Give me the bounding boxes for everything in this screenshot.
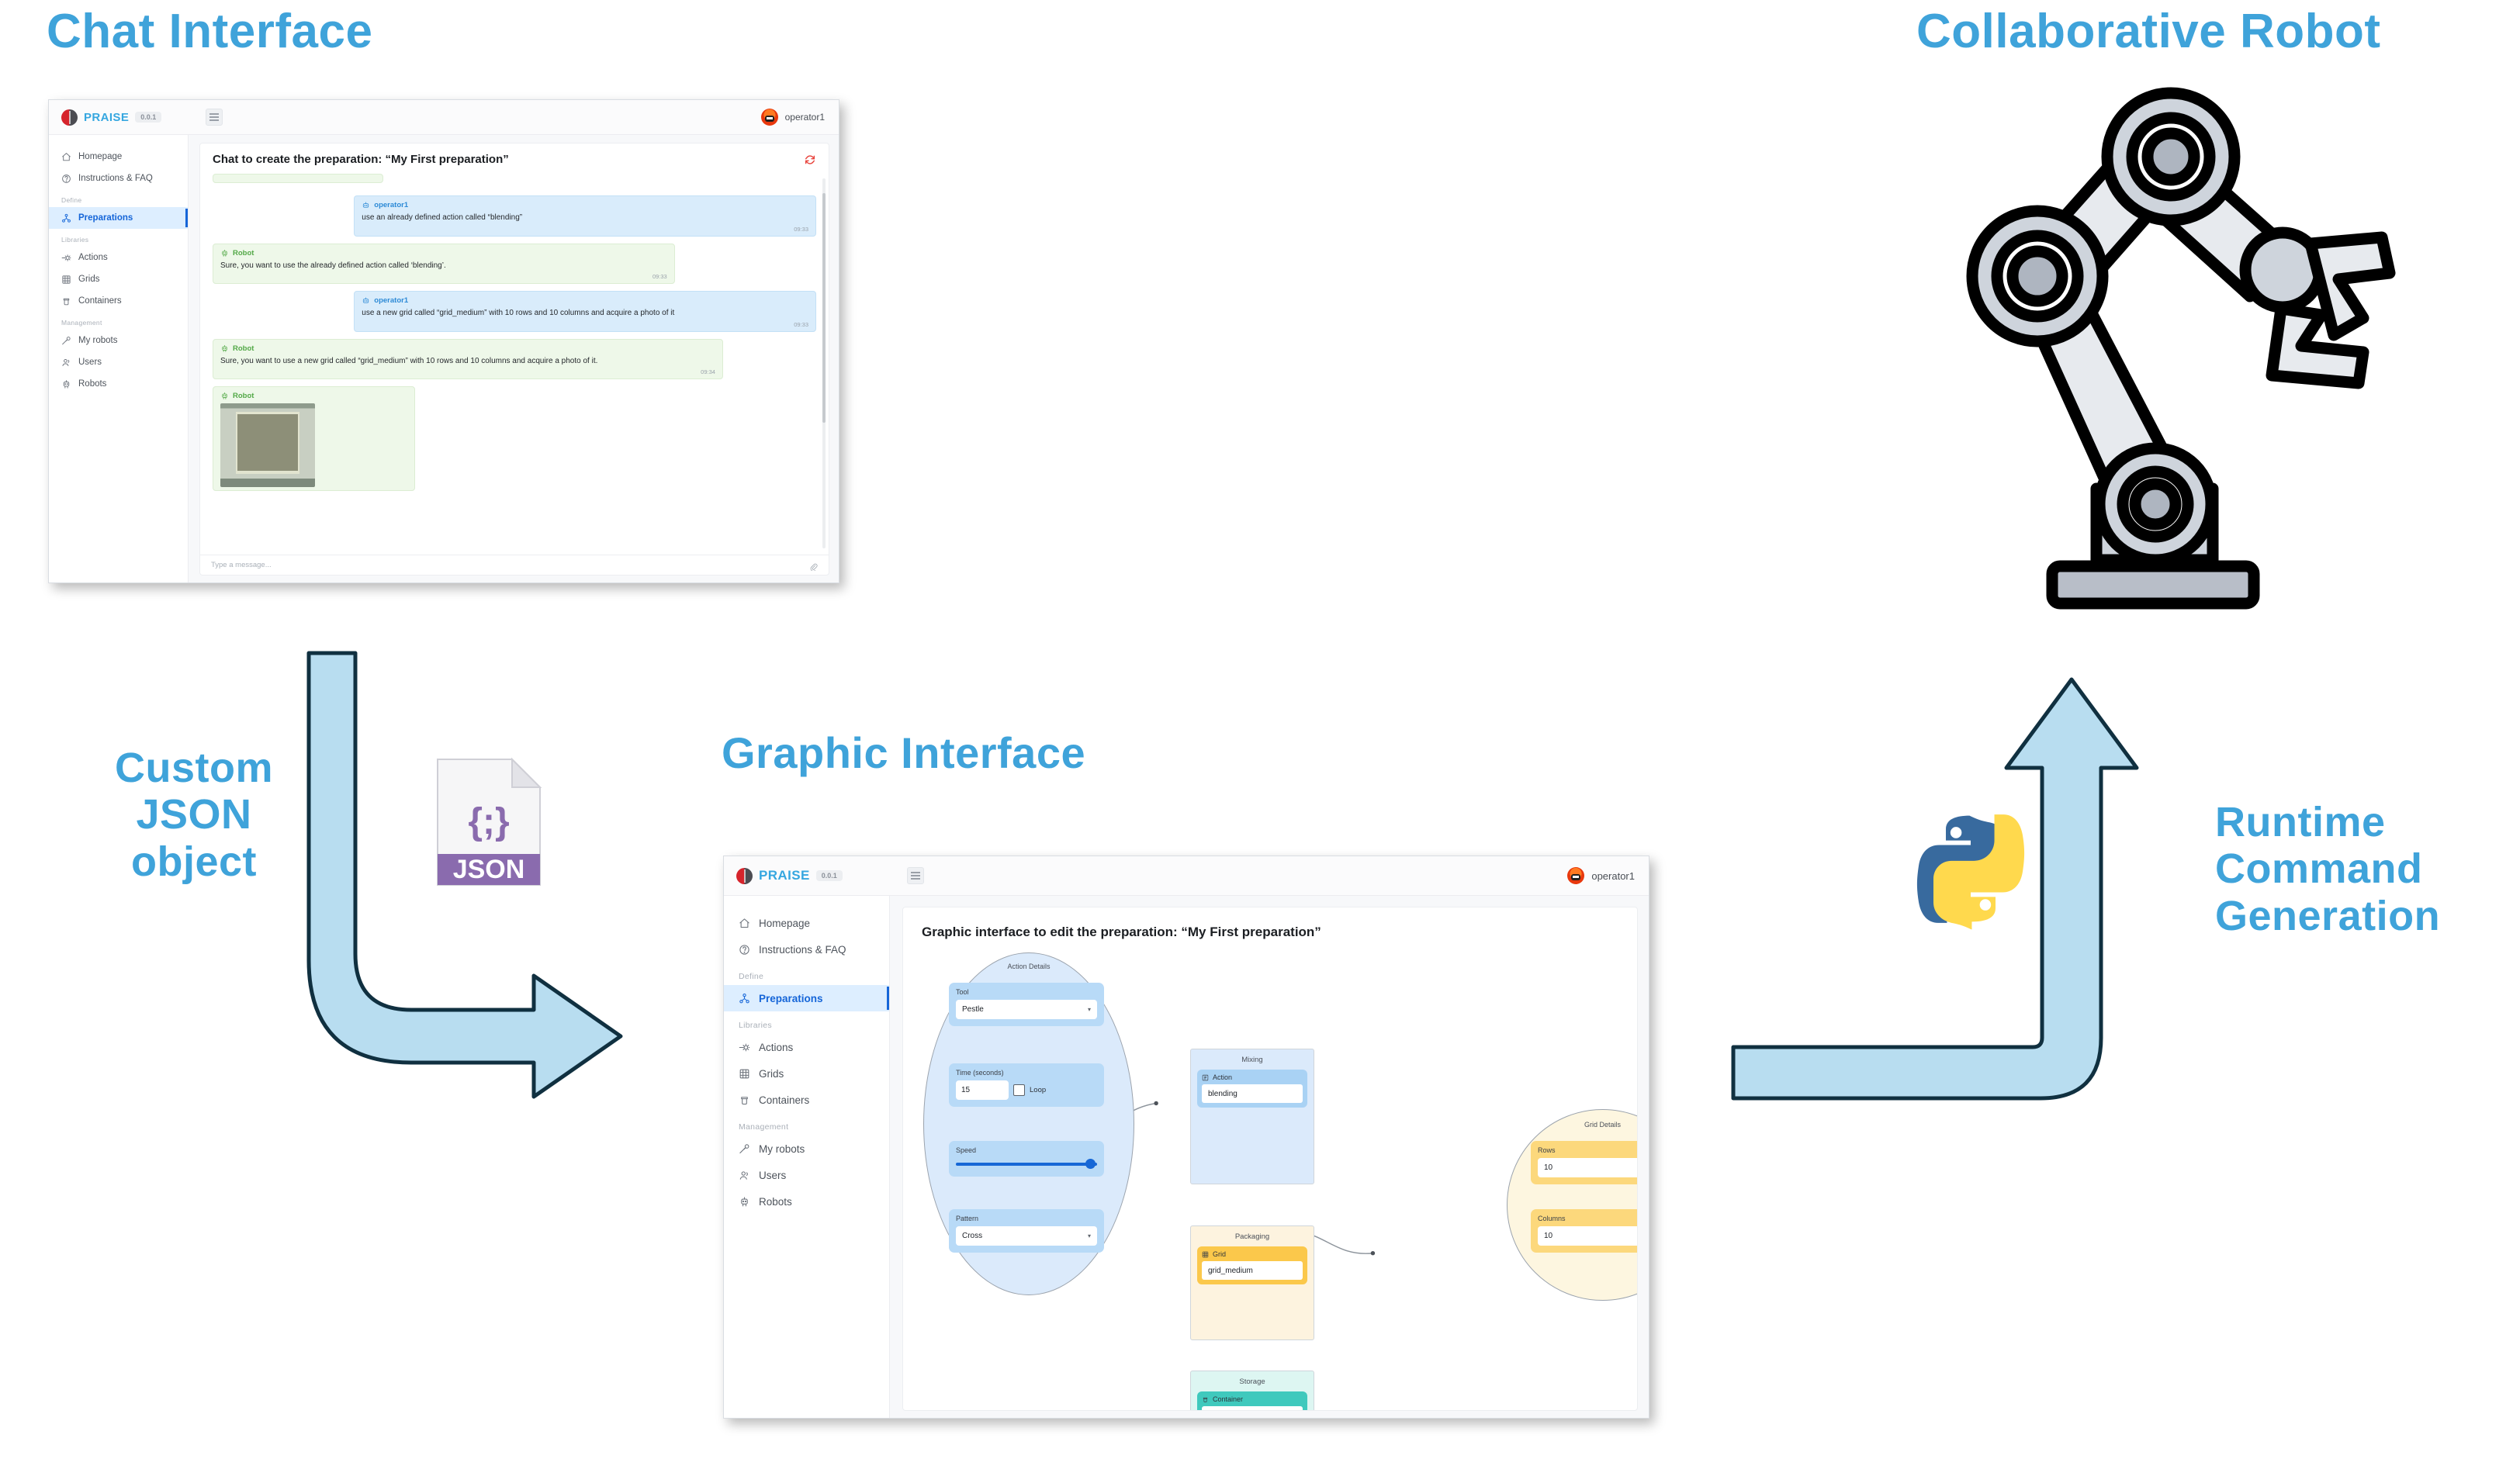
rows-value: 10: [1544, 1163, 1552, 1172]
version-badge: 0.0.1: [135, 112, 161, 123]
sidebar-item-actions[interactable]: Actions: [724, 1034, 889, 1060]
chat-message-list[interactable]: operator1 use an already defined action …: [200, 172, 829, 555]
message-input[interactable]: Type a message...: [211, 561, 803, 569]
node-canvas[interactable]: Action Details Tool Pestle ▾ Time (secon…: [903, 948, 1637, 1410]
chat-topbar: PRAISE 0.0.1 operator1: [49, 100, 839, 135]
tool-label: Tool: [956, 988, 1097, 996]
graphic-canvas-card: Graphic interface to edit the preparatio…: [902, 907, 1638, 1411]
graphic-title: Graphic interface to edit the preparatio…: [903, 907, 1637, 940]
grid-details-label: Grid Details: [1507, 1121, 1638, 1129]
message-sender: operator1: [362, 201, 808, 209]
sender-name: operator1: [374, 296, 408, 305]
chat-card: Chat to create the preparation: “My Firs…: [199, 143, 829, 576]
node-slot[interactable]: Grid grid_medium: [1197, 1246, 1307, 1284]
message-text: use a new grid called “grid_medium” with…: [362, 308, 808, 319]
brand-zone[interactable]: PRAISE 0.0.1: [49, 109, 189, 126]
heading-chat-interface: Chat Interface: [47, 5, 372, 58]
message-time: 09:33: [220, 273, 667, 280]
slot-label: Grid: [1213, 1250, 1226, 1258]
message-time: 09:33: [362, 321, 808, 328]
message-sender: Robot: [220, 392, 407, 400]
robot-icon: [220, 249, 229, 258]
heading-graphic-interface: Graphic Interface: [722, 729, 1085, 778]
message-sender: Robot: [220, 249, 667, 258]
sidebar-item-users[interactable]: Users: [49, 351, 188, 373]
sidebar-item-label: Actions: [78, 253, 108, 262]
time-field[interactable]: Time (seconds) 15 Loop: [949, 1063, 1104, 1107]
label-runtime-command-generation: Runtime Command Generation: [2215, 799, 2520, 939]
rows-field[interactable]: Rows 10: [1531, 1141, 1638, 1184]
sidebar-item-label: Users: [759, 1170, 786, 1181]
slot-header: Container: [1202, 1395, 1303, 1403]
chevron-down-icon: ▾: [1088, 1232, 1091, 1239]
grid-photo-attachment[interactable]: [220, 403, 315, 487]
preparations-icon: [739, 993, 750, 1004]
home-icon: [61, 152, 71, 162]
sidebar[interactable]: Homepage Instructions & FAQ Define Prepa…: [49, 135, 189, 583]
chat-message: operator1 use an already defined action …: [354, 195, 816, 237]
message-sender: Robot: [220, 344, 715, 353]
label-custom-json-object: Custom JSON object: [78, 745, 310, 885]
sidebar-item-robots[interactable]: Robots: [724, 1188, 889, 1215]
json-label-glyph: JSON: [453, 855, 525, 884]
robot-icon: [220, 344, 229, 353]
robot-icon: [220, 392, 229, 400]
sender-name: operator1: [374, 201, 408, 209]
users-icon: [61, 358, 71, 368]
sidebar-item-robots[interactable]: Robots: [49, 373, 188, 395]
operator-icon: [362, 296, 370, 305]
sidebar-item-preparations[interactable]: Preparations: [724, 985, 889, 1011]
help-icon: [739, 944, 750, 956]
tool-select[interactable]: Pestle ▾: [956, 1000, 1097, 1019]
sidebar-toggle-icon[interactable]: [206, 109, 223, 126]
sidebar-section-management: Management: [724, 1122, 889, 1132]
message-time: 09:33: [362, 226, 808, 233]
loop-label: Loop: [1030, 1086, 1046, 1094]
sidebar-item-instructions-faq[interactable]: Instructions & FAQ: [49, 168, 188, 189]
sidebar-item-label: Robots: [78, 379, 106, 389]
slot-value[interactable]: pulvis: [1202, 1406, 1303, 1411]
sidebar-item-label: Containers: [78, 296, 122, 306]
graphic-title-prefix: Graphic interface to edit the preparatio…: [922, 925, 1181, 939]
chat-header: Chat to create the preparation: “My Firs…: [200, 143, 829, 172]
sidebar-item-instructions-faq[interactable]: Instructions & FAQ: [724, 936, 889, 963]
sidebar-item-my-robots[interactable]: My robots: [49, 330, 188, 351]
sidebar-item-containers[interactable]: Containers: [49, 290, 188, 312]
slot-label: Action: [1213, 1073, 1232, 1081]
sidebar-item-homepage[interactable]: Homepage: [724, 910, 889, 936]
sidebar-item-label: Homepage: [78, 152, 122, 161]
grid-icon: [61, 275, 71, 285]
sender-name: Robot: [233, 344, 254, 353]
time-row[interactable]: 15 Loop: [956, 1080, 1097, 1100]
pattern-value: Cross: [962, 1232, 982, 1240]
columns-value: 10: [1544, 1232, 1552, 1240]
loop-checkbox[interactable]: [1013, 1084, 1025, 1096]
grid-details-group: Grid Details Rows 10 Columns 10: [1507, 1109, 1638, 1301]
sidebar-section-define: Define: [49, 196, 188, 204]
message-text: Sure, you want to use the already define…: [220, 261, 667, 271]
sidebar-item-label: Actions: [759, 1042, 793, 1053]
sidebar-section-management: Management: [49, 319, 188, 327]
sidebar-section-libraries: Libraries: [724, 1021, 889, 1030]
sidebar-item-containers[interactable]: Containers: [724, 1087, 889, 1113]
sender-name: Robot: [233, 249, 254, 258]
help-icon: [61, 174, 71, 184]
graphic-main: Graphic interface to edit the preparatio…: [890, 896, 1649, 1419]
chat-message-stub: [213, 174, 383, 183]
json-braces-glyph: {;}: [468, 801, 509, 842]
preparations-icon: [61, 213, 71, 223]
python-logo-icon: [1909, 807, 2033, 931]
plate-wells: [237, 414, 298, 471]
pattern-select[interactable]: Cross ▾: [956, 1226, 1097, 1246]
chat-title-prefix: Chat to create the preparation:: [213, 153, 386, 166]
sidebar-item-label: Grids: [78, 275, 99, 284]
sidebar-item-label: My robots: [759, 1143, 805, 1155]
graphic-body: Homepage Instructions & FAQ Define Prepa…: [724, 896, 1649, 1419]
sidebar-item-actions[interactable]: Actions: [49, 247, 188, 268]
pattern-label: Pattern: [956, 1215, 1097, 1222]
chat-scrollbar[interactable]: [822, 178, 826, 548]
chat-body: Homepage Instructions & FAQ Define Prepa…: [49, 135, 839, 583]
chat-interface-window[interactable]: PRAISE 0.0.1 operator1 Homepage Instruct…: [48, 99, 839, 583]
tool-value: Pestle: [962, 1005, 984, 1014]
sidebar-item-label: My robots: [78, 336, 118, 345]
message-time: 09:34: [220, 368, 715, 375]
slot-value[interactable]: blending: [1202, 1084, 1303, 1103]
slot-header: Grid: [1202, 1250, 1303, 1258]
refresh-icon[interactable]: [804, 154, 816, 166]
sidebar-item-my-robots[interactable]: My robots: [724, 1136, 889, 1162]
sidebar-item-users[interactable]: Users: [724, 1162, 889, 1188]
actions-icon: [61, 253, 71, 263]
user-name: operator1: [1591, 870, 1635, 882]
slot-label: Container: [1213, 1395, 1243, 1403]
user-name: operator1: [785, 112, 825, 123]
sidebar-item-label: Grids: [759, 1068, 784, 1080]
brand-name: PRAISE: [759, 868, 810, 883]
sidebar-item-label: Users: [78, 358, 102, 367]
columns-input[interactable]: 10: [1538, 1226, 1638, 1246]
message-sender: operator1: [362, 296, 808, 305]
sidebar-item-label: Containers: [759, 1094, 809, 1106]
chat-title-name: “My First preparation”: [386, 153, 509, 166]
brand-zone[interactable]: PRAISE 0.0.1: [724, 868, 890, 884]
actions-icon: [739, 1042, 750, 1053]
message-text: Sure, you want to use a new grid called …: [220, 356, 715, 367]
node-slot[interactable]: Container pulvis: [1197, 1391, 1307, 1411]
sidebar-item-label: Instructions & FAQ: [78, 174, 153, 183]
slider-knob[interactable]: [1085, 1159, 1096, 1169]
user-chip[interactable]: operator1: [1567, 867, 1635, 884]
sidebar-item-label: Homepage: [759, 918, 810, 929]
collaborative-robot-illustration: [1924, 85, 2405, 628]
slot-header: Action: [1202, 1073, 1303, 1081]
pattern-field[interactable]: Pattern Cross ▾: [949, 1209, 1104, 1253]
json-file-icon: {;} JSON: [434, 756, 543, 888]
praise-brain-logo-icon: [736, 868, 753, 884]
speed-field[interactable]: Speed: [949, 1141, 1104, 1177]
tool-field[interactable]: Tool Pestle ▾: [949, 983, 1104, 1026]
slider-track: [956, 1163, 1097, 1166]
time-label: Time (seconds): [956, 1069, 1097, 1077]
chat-message: Robot Sure, you want to use the already …: [213, 244, 675, 285]
chat-message: Robot Sure, you want to use a new grid c…: [213, 339, 723, 380]
chat-title: Chat to create the preparation: “My Firs…: [213, 153, 509, 166]
rows-input[interactable]: 10: [1538, 1158, 1638, 1177]
sidebar-item-label: Instructions & FAQ: [759, 944, 846, 956]
praise-brain-logo-icon: [61, 109, 78, 126]
action-details-group: Action Details Tool Pestle ▾ Time (secon…: [923, 952, 1134, 1295]
sidebar-item-grids[interactable]: Grids: [724, 1060, 889, 1087]
node-title: Storage: [1197, 1377, 1307, 1386]
columns-field[interactable]: Columns 10: [1531, 1209, 1638, 1253]
time-input[interactable]: 15: [956, 1080, 1009, 1100]
avatar: [761, 109, 778, 126]
sidebar-item-homepage[interactable]: Homepage: [49, 146, 188, 168]
container-icon: [61, 296, 71, 306]
rows-label: Rows: [1538, 1146, 1638, 1154]
sidebar-section-define: Define: [724, 972, 889, 981]
node-title: Packaging: [1197, 1232, 1307, 1241]
my-robots-icon: [739, 1143, 750, 1155]
grid-icon: [1202, 1251, 1209, 1258]
version-badge: 0.0.1: [816, 870, 843, 881]
grid-icon: [739, 1068, 750, 1080]
node-mixing[interactable]: Mixing Action blending: [1190, 1049, 1314, 1184]
graphic-title-name: “My First preparation”: [1181, 925, 1321, 939]
speed-slider[interactable]: [956, 1158, 1097, 1170]
paperclip-icon[interactable]: [809, 561, 818, 569]
sidebar-item-grids[interactable]: Grids: [49, 268, 188, 290]
sidebar-item-label: Robots: [759, 1196, 792, 1208]
sidebar[interactable]: Homepage Instructions & FAQ Define Prepa…: [724, 896, 890, 1419]
message-text: use an already defined action called “bl…: [362, 213, 808, 223]
sidebar-item-preparations[interactable]: Preparations: [49, 207, 188, 229]
users-icon: [739, 1170, 750, 1181]
graphic-topbar: PRAISE 0.0.1 operator1: [724, 856, 1649, 896]
chat-composer[interactable]: Type a message...: [200, 555, 829, 575]
graphic-interface-window[interactable]: PRAISE 0.0.1 operator1 Homepage Instruct…: [723, 856, 1649, 1419]
columns-label: Columns: [1538, 1215, 1638, 1222]
chat-message-photo: Robot: [213, 386, 415, 491]
container-icon: [739, 1094, 750, 1106]
chat-message: operator1 use a new grid called “grid_me…: [354, 291, 816, 332]
heading-collaborative-robot: Collaborative Robot: [1916, 5, 2381, 58]
my-robots-icon: [61, 336, 71, 346]
speed-label: Speed: [956, 1146, 1097, 1154]
sidebar-item-label: Preparations: [78, 213, 133, 223]
container-icon: [1202, 1396, 1209, 1403]
robots-icon: [739, 1196, 750, 1208]
operator-icon: [362, 201, 370, 209]
robots-icon: [61, 379, 71, 389]
node-title: Mixing: [1197, 1056, 1307, 1064]
node-packaging[interactable]: Packaging Grid grid_medium: [1190, 1225, 1314, 1340]
action-details-label: Action Details: [924, 963, 1134, 970]
sidebar-toggle-icon[interactable]: [907, 867, 924, 884]
brand-name: PRAISE: [84, 111, 129, 124]
sender-name: Robot: [233, 392, 254, 400]
node-slot[interactable]: Action blending: [1197, 1070, 1307, 1108]
avatar: [1567, 867, 1584, 884]
action-icon: [1202, 1074, 1209, 1081]
sidebar-section-libraries: Libraries: [49, 236, 188, 244]
chevron-down-icon: ▾: [1088, 1006, 1091, 1013]
sidebar-item-label: Preparations: [759, 993, 823, 1004]
user-chip[interactable]: operator1: [761, 109, 825, 126]
slot-value[interactable]: grid_medium: [1202, 1261, 1303, 1280]
node-storage[interactable]: Storage Container pulvis: [1190, 1371, 1314, 1411]
diagram-stage: Chat Interface Collaborative Robot Graph…: [0, 0, 2520, 1476]
home-icon: [739, 918, 750, 929]
chat-main: Chat to create the preparation: “My Firs…: [189, 135, 839, 583]
